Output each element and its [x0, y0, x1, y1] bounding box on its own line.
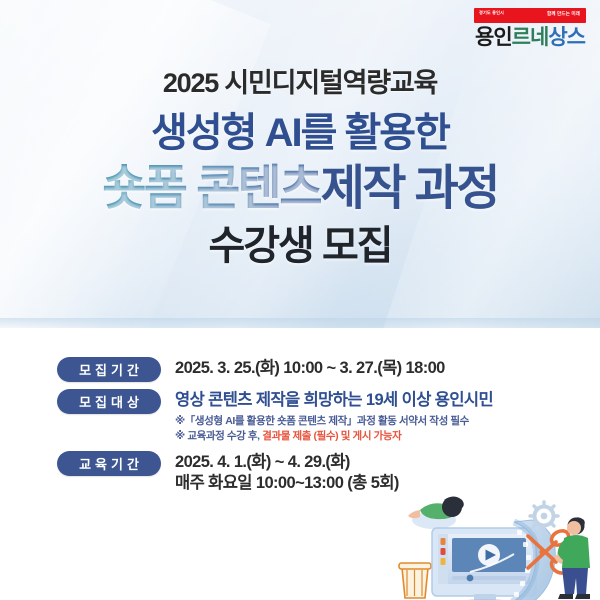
info-row-recruit-period: 모집기간 2025. 3. 25.(화) 10:00 ~ 3. 27.(목) 1… — [0, 357, 600, 382]
video-editing-illustration — [386, 476, 598, 600]
info-row-course-period-text: 2025. 4. 1.(화) ~ 4. 29.(화) 매주 화요일 10:00~… — [175, 451, 399, 494]
info-section: 모집기간 2025. 3. 25.(화) 10:00 ~ 3. 27.(목) 1… — [0, 357, 600, 494]
info-row-target-text: 영상 콘텐츠 제작을 희망하는 19세 이상 용인시민 ※「생성형 AI를 활용… — [175, 389, 493, 444]
badge-course-period: 교육기간 — [57, 451, 161, 476]
headline-block: 2025 시민디지털역량교육 생성형 AI를 활용한 숏폼 콘텐츠제작 과정 수… — [0, 0, 600, 269]
target-notes: ※「생성형 AI를 활용한 숏폼 콘텐츠 제작」과정 활동 서약서 작성 필수 … — [175, 414, 493, 444]
target-note-2-lead: ※ 교육과정 수강 후, — [175, 430, 262, 442]
headline-line-4: 수강생 모집 — [0, 223, 600, 269]
target-note-2-accent: 결과물 제출 (필수) 및 게시 가능자 — [262, 430, 401, 442]
target-note-2: ※ 교육과정 수강 후, 결과물 제출 (필수) 및 게시 가능자 — [175, 429, 493, 444]
info-row-recruit-period-text: 2025. 3. 25.(화) 10:00 ~ 3. 27.(목) 18:00 — [175, 357, 445, 379]
info-row-target: 모집대상 영상 콘텐츠 제작을 희망하는 19세 이상 용인시민 ※「생성형 A… — [0, 389, 600, 444]
recruit-period-value: 2025. 3. 25.(화) 10:00 ~ 3. 27.(목) 18:00 — [175, 358, 445, 379]
monitor-with-play-button-icon — [432, 528, 536, 600]
poster-root: 경기도 용인시 함께 만드는 미래 용인르네상스 2025 시민디지털역량교육 … — [0, 0, 600, 600]
target-note-1: ※「생성형 AI를 활용한 숏폼 콘텐츠 제작」과정 활동 서약서 작성 필수 — [175, 414, 493, 429]
headline-line-3-rest: 제작 과정 — [321, 162, 498, 215]
target-value: 영상 콘텐츠 제작을 희망하는 19세 이상 용인시민 — [175, 390, 493, 411]
headline-highlight-shortform: 숏폼 콘텐츠 — [102, 162, 321, 215]
person-lying-icon — [408, 497, 464, 530]
badge-recruit-period: 모집기간 — [57, 357, 161, 382]
headline-line-3: 숏폼 콘텐츠제작 과정 — [0, 162, 600, 216]
course-schedule-value: 매주 화요일 10:00~13:00 (총 5회) — [175, 473, 399, 494]
headline-line-1: 2025 시민디지털역량교육 — [0, 68, 600, 98]
course-period-value: 2025. 4. 1.(화) ~ 4. 29.(화) — [175, 452, 399, 473]
trash-bin-icon — [399, 563, 431, 598]
badge-target: 모집대상 — [57, 389, 161, 414]
headline-line-2: 생성형 AI를 활용한 — [0, 111, 600, 156]
gear-icon — [530, 502, 558, 530]
